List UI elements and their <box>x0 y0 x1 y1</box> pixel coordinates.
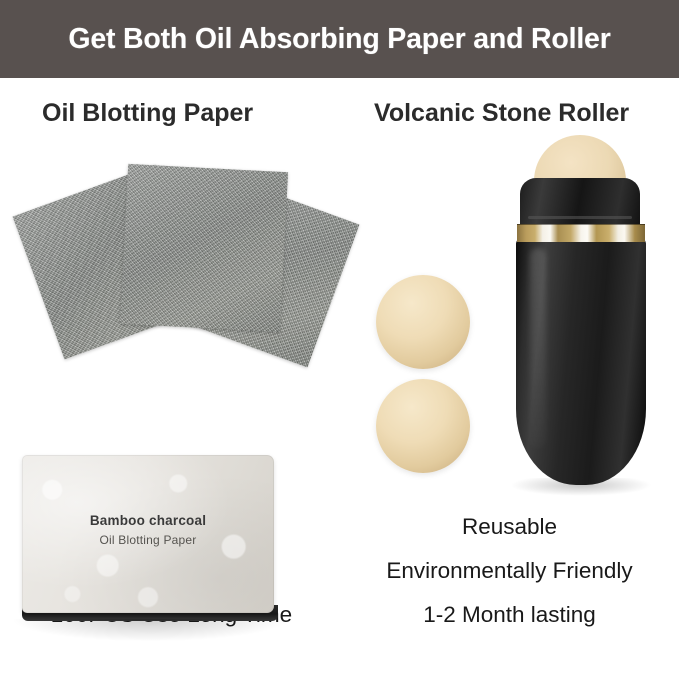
package-label-title: Bamboo charcoal <box>22 513 274 528</box>
feature-line: 1-2 Month lasting <box>340 593 679 637</box>
spare-volcanic-stone <box>376 379 470 473</box>
roller-gold-band <box>517 224 645 242</box>
blotting-paper-sheet <box>120 164 288 332</box>
right-column-heading: Volcanic Stone Roller <box>374 99 629 128</box>
spare-volcanic-stone <box>376 275 470 369</box>
left-column-heading: Oil Blotting Paper <box>42 99 253 128</box>
feature-line: Reusable <box>340 505 679 549</box>
volcanic-roller-product-image <box>340 130 679 500</box>
right-feature-list: Reusable Environmentally Friendly 1-2 Mo… <box>340 505 679 637</box>
roller-body <box>516 238 646 485</box>
feature-line: Environmentally Friendly <box>340 549 679 593</box>
header-banner: Get Both Oil Absorbing Paper and Roller <box>0 0 679 78</box>
package-label: Bamboo charcoal Oil Blotting Paper <box>22 513 274 547</box>
blotting-paper-product-image: Bamboo charcoal Oil Blotting Paper <box>0 150 340 500</box>
banner-title: Get Both Oil Absorbing Paper and Roller <box>68 23 610 56</box>
blotting-paper-package: Bamboo charcoal Oil Blotting Paper <box>22 455 274 613</box>
product-feature-image: Get Both Oil Absorbing Paper and Roller … <box>0 0 679 679</box>
package-label-subtitle: Oil Blotting Paper <box>22 533 274 547</box>
